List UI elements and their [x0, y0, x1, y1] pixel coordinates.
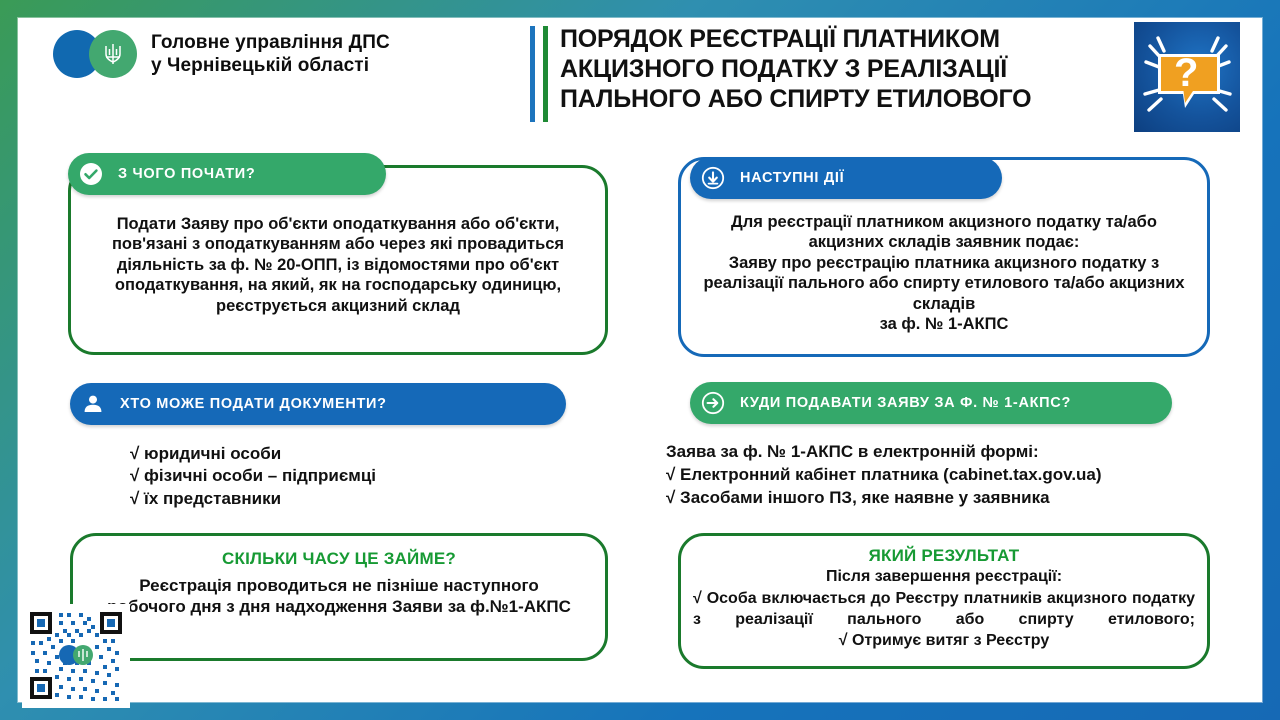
card-result-body-2: √ Отримує витяг з Реєстру — [681, 630, 1207, 651]
card-result-body: √ Особа включається до Реєстру платників… — [681, 587, 1207, 631]
card-duration-body: Реєстрація проводиться не пізніше наступ… — [73, 569, 605, 617]
card-duration-heading: СКІЛЬКИ ЧАСУ ЦЕ ЗАЙМЕ? — [73, 549, 605, 569]
qr-code-icon[interactable] — [22, 604, 130, 708]
pill-start[interactable]: З ЧОГО ПОЧАТИ? — [68, 153, 386, 195]
pill-who[interactable]: ХТО МОЖЕ ПОДАТИ ДОКУМЕНТИ? — [70, 383, 566, 425]
infographic-page: Головне управління ДПС у Чернівецькій об… — [0, 0, 1280, 720]
question-speech-bubble-icon: ? — [1134, 22, 1240, 132]
organization-name: Головне управління ДПС у Чернівецькій об… — [151, 31, 390, 77]
pill-where-label: КУДИ ПОДАВАТИ ЗАЯВУ ЗА Ф. № 1-АКПС? — [740, 395, 1071, 411]
arrow-right-circle-icon — [700, 390, 726, 416]
page-title: ПОРЯДОК РЕЄСТРАЦІЇ ПЛАТНИКОМ АКЦИЗНОГО П… — [560, 24, 1120, 114]
card-result-heading: ЯКИЙ РЕЗУЛЬТАТ — [681, 546, 1207, 566]
pill-who-label: ХТО МОЖЕ ПОДАТИ ДОКУМЕНТИ? — [120, 396, 387, 412]
header: Головне управління ДПС у Чернівецькій об… — [40, 12, 1256, 132]
title-accent-bars — [530, 26, 548, 122]
card-duration: СКІЛЬКИ ЧАСУ ЦЕ ЗАЙМЕ? Реєстрація провод… — [70, 533, 608, 661]
card-result: ЯКИЙ РЕЗУЛЬТАТ Після завершення реєстрац… — [678, 533, 1210, 669]
check-circle-icon — [78, 161, 104, 187]
organization-logo: Головне управління ДПС у Чернівецькій об… — [53, 30, 390, 78]
pill-next-steps[interactable]: НАСТУПНІ ДІЇ — [690, 157, 1002, 199]
pill-start-label: З ЧОГО ПОЧАТИ? — [118, 166, 256, 182]
who-list: √ юридичні особи √ фізичні особи – підпр… — [130, 443, 550, 510]
accent-bar-green — [543, 26, 548, 122]
pill-next-steps-label: НАСТУПНІ ДІЇ — [740, 170, 844, 186]
accent-bar-blue — [530, 26, 535, 122]
ukraine-trident-icon — [89, 30, 137, 78]
download-circle-icon — [700, 165, 726, 191]
card-result-subheading: Після завершення реєстрації: — [681, 566, 1207, 587]
svg-text:?: ? — [1174, 51, 1198, 95]
person-icon — [80, 391, 106, 417]
pill-where[interactable]: КУДИ ПОДАВАТИ ЗАЯВУ ЗА Ф. № 1-АКПС? — [690, 382, 1172, 424]
where-list: Заява за ф. № 1-АКПС в електронній формі… — [666, 440, 1246, 509]
